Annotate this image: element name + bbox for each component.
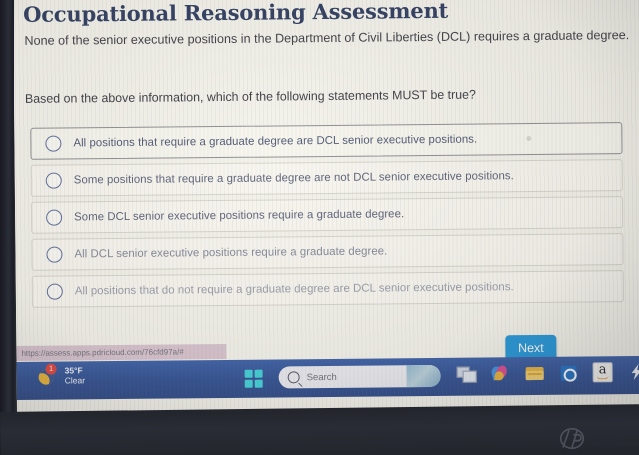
radio-button-icon[interactable] — [46, 247, 62, 263]
monitor-screen: Occupational Reasoning Assessment None o… — [13, 0, 639, 416]
windows-taskbar: 1 35°F Clear Search — [17, 356, 639, 400]
answer-option-label: Some DCL senior executive positions requ… — [74, 208, 404, 223]
file-explorer-icon[interactable] — [525, 363, 545, 383]
lightning-bolt-icon[interactable] — [627, 362, 639, 382]
answer-option-3[interactable]: Some DCL senior executive positions requ… — [31, 196, 623, 234]
notification-badge: 1 — [46, 364, 57, 375]
search-icon — [288, 371, 300, 383]
answer-option-2[interactable]: Some positions that require a graduate d… — [31, 159, 623, 197]
monitor-photo: Occupational Reasoning Assessment None o… — [0, 0, 639, 455]
radio-button-icon[interactable] — [46, 210, 62, 226]
monitor-bezel-left — [0, 0, 14, 455]
taskbar-weather-widget[interactable]: 1 35°F Clear — [39, 365, 86, 385]
radio-button-icon[interactable] — [45, 136, 61, 152]
answer-option-4[interactable]: All DCL senior executive positions requi… — [31, 233, 623, 271]
windows-start-icon[interactable] — [245, 370, 264, 389]
answer-options-list: All positions that require a graduate de… — [30, 122, 624, 313]
task-view-icon[interactable] — [457, 364, 477, 384]
outlook-icon[interactable] — [559, 363, 579, 383]
page-title: Occupational Reasoning Assessment — [23, 0, 448, 27]
monitor-bezel-bottom — [0, 404, 639, 455]
weather-condition: Clear — [65, 375, 85, 385]
taskbar-search-input[interactable]: Search — [279, 365, 441, 389]
answer-option-label: Some positions that require a graduate d… — [74, 170, 514, 186]
search-thumbnail-image — [407, 365, 441, 387]
answer-option-label: All DCL senior executive positions requi… — [74, 245, 387, 260]
radio-button-icon[interactable] — [46, 173, 62, 189]
copilot-icon[interactable] — [491, 363, 511, 383]
premise-text: None of the senior executive positions i… — [24, 28, 629, 48]
crescent-moon-icon: 1 — [39, 366, 59, 386]
answer-option-1[interactable]: All positions that require a graduate de… — [30, 122, 622, 160]
answer-option-label: All positions that require a graduate de… — [73, 134, 477, 150]
dust-speck — [526, 136, 531, 141]
weather-temperature: 35°F — [65, 365, 85, 375]
browser-status-bar: https://assess.apps.pdricloud.com/76cfd9… — [16, 344, 226, 361]
hp-logo — [557, 428, 587, 450]
amazon-icon[interactable]: a — [593, 362, 613, 382]
radio-button-icon[interactable] — [47, 284, 63, 300]
search-placeholder: Search — [307, 371, 337, 382]
answer-option-label: All positions that do not require a grad… — [75, 281, 514, 297]
status-bar-url: https://assess.apps.pdricloud.com/76cfd9… — [21, 347, 183, 358]
answer-option-5[interactable]: All positions that do not require a grad… — [32, 270, 624, 308]
assessment-page: Occupational Reasoning Assessment None o… — [13, 0, 639, 364]
question-text: Based on the above information, which of… — [25, 88, 476, 106]
weather-text: 35°F Clear — [65, 365, 86, 385]
taskbar-icon-group: a — [457, 362, 639, 384]
